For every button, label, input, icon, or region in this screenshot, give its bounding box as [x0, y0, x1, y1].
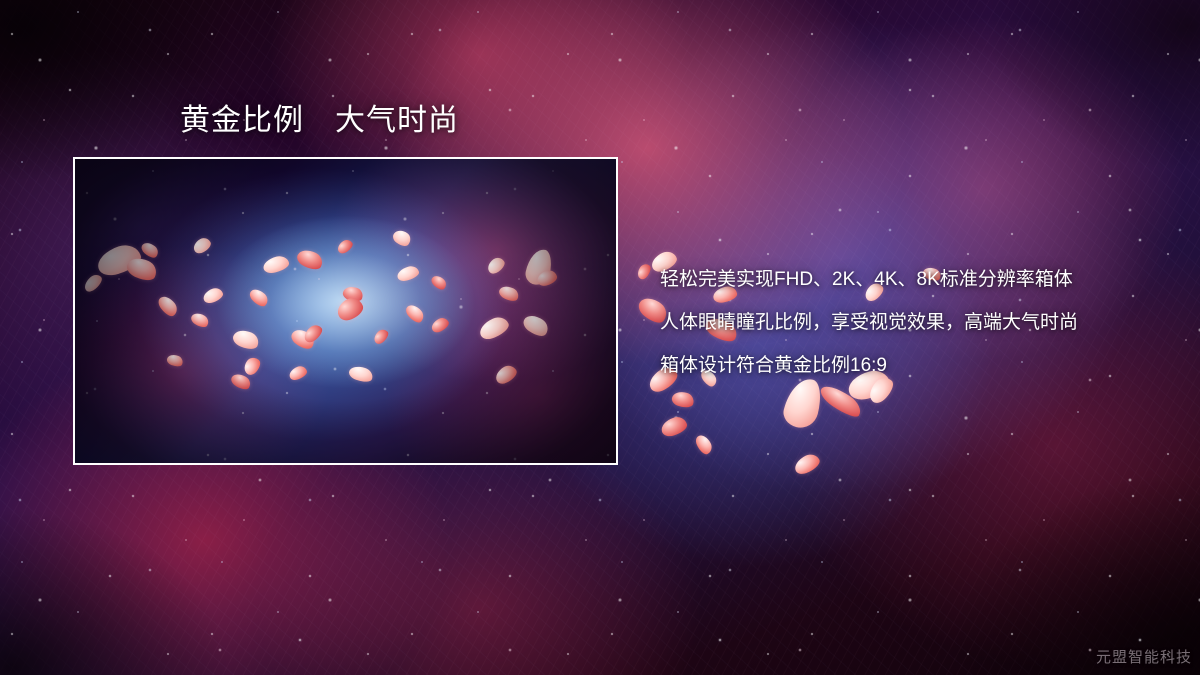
photo-frame: [73, 157, 618, 465]
photo-nebula-image: [75, 159, 616, 463]
body-line-3: 箱体设计符合黄金比例16:9: [660, 344, 1160, 387]
presentation-slide: 黄金比例 大气时尚 轻松完美实现FHD、2K、4K、8K标准分辨率箱体 人体眼睛…: [0, 0, 1200, 675]
body-line-1: 轻松完美实现FHD、2K、4K、8K标准分辨率箱体: [660, 258, 1160, 301]
body-text-block: 轻松完美实现FHD、2K、4K、8K标准分辨率箱体 人体眼睛瞳孔比例，享受视觉效…: [660, 258, 1160, 387]
watermark: 元盟智能科技: [1096, 646, 1192, 667]
body-line-2: 人体眼睛瞳孔比例，享受视觉效果，高端大气时尚: [660, 301, 1160, 344]
page-title: 黄金比例 大气时尚: [180, 102, 459, 140]
photo-vignette: [75, 159, 616, 463]
